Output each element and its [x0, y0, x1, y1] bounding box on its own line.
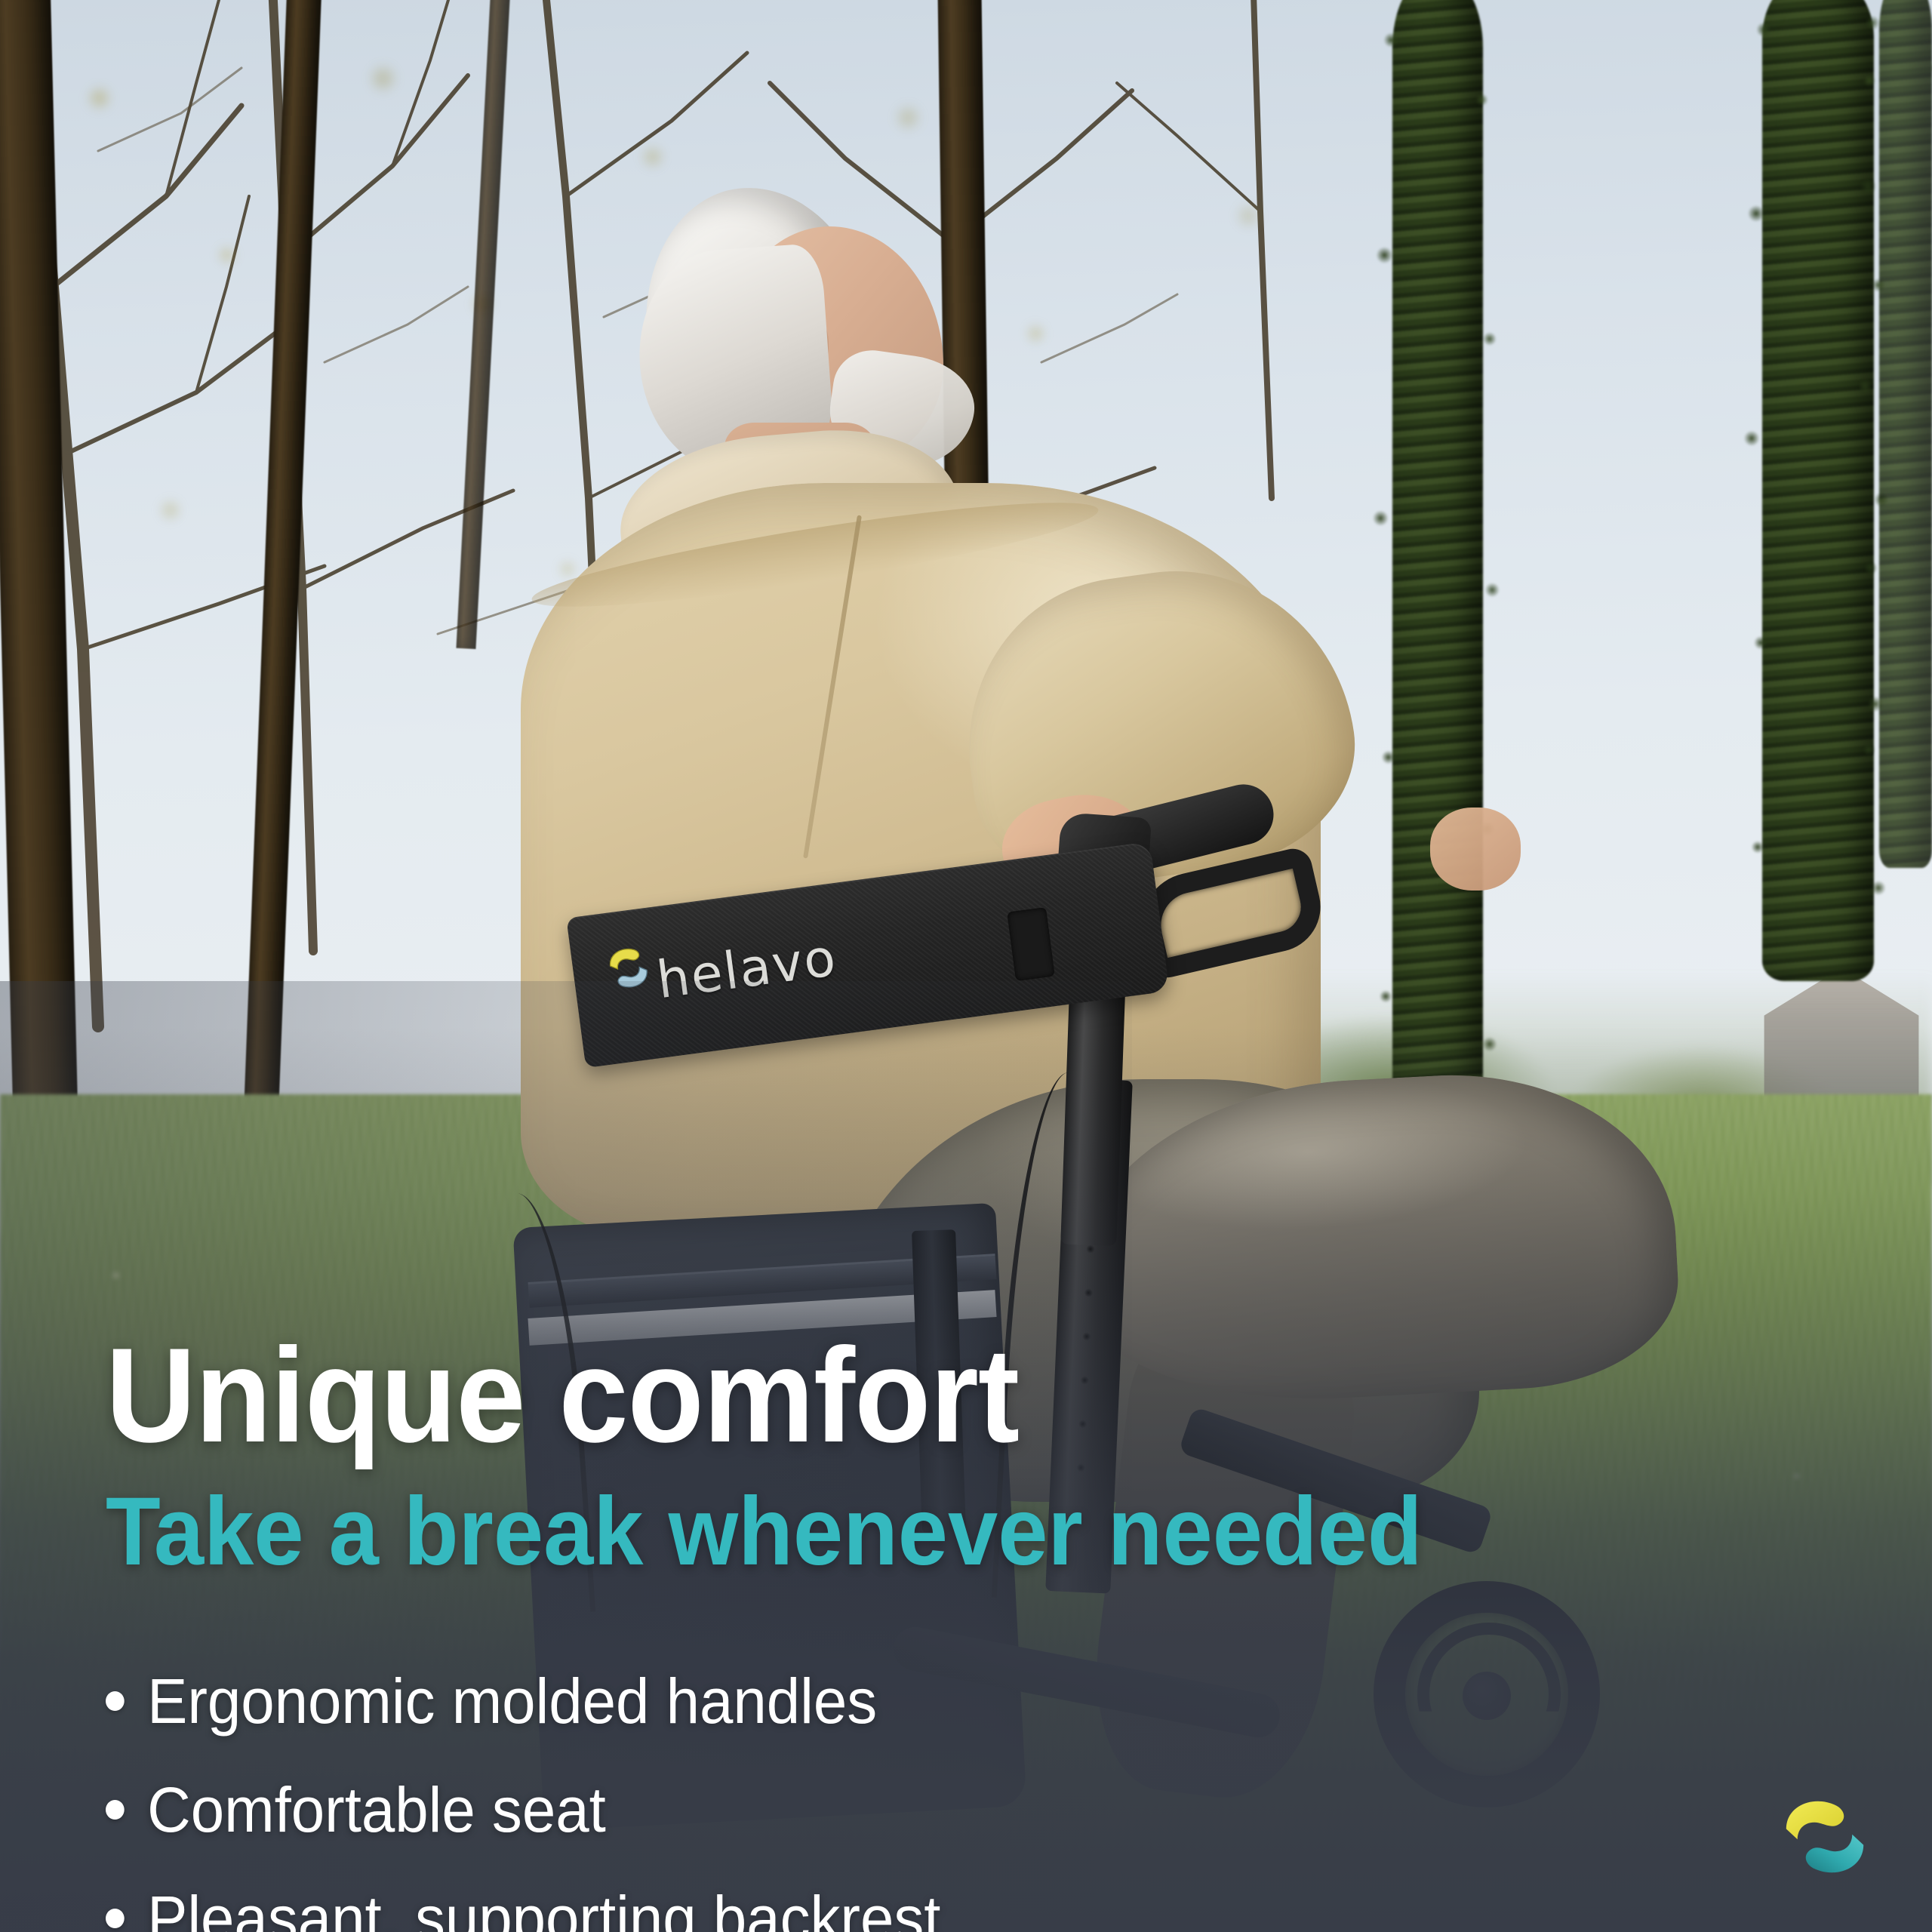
bullet-dot-icon	[106, 1800, 125, 1820]
marketing-copy-block: Unique comfort Take a break whenever nee…	[106, 1328, 1690, 1932]
list-item: Ergonomic molded handles	[106, 1669, 1611, 1733]
helavo-hands-logo-icon	[601, 939, 657, 999]
bullet-dot-icon	[106, 1909, 125, 1928]
list-item: Comfortable seat	[106, 1778, 1611, 1841]
headline: Unique comfort	[106, 1328, 1580, 1463]
list-item-label: Ergonomic molded handles	[147, 1669, 877, 1733]
ivy-poplar-tree	[1879, 0, 1932, 868]
feature-list: Ergonomic molded handles Comfortable sea…	[106, 1669, 1690, 1932]
helavo-hands-logo-icon	[1777, 1789, 1873, 1885]
ivy-poplar-tree	[1762, 0, 1874, 981]
hand	[1430, 808, 1521, 891]
ivy-poplar-tree	[1392, 0, 1483, 1155]
product-marketing-banner: helavo Unique comfort Take a break whene…	[0, 0, 1932, 1932]
bullet-dot-icon	[106, 1691, 125, 1711]
list-item: Pleasant, supporting backrest	[106, 1887, 1611, 1932]
subheadline: Take a break whenever needed	[106, 1484, 1580, 1580]
list-item-label: Comfortable seat	[147, 1778, 606, 1841]
list-item-label: Pleasant, supporting backrest	[147, 1887, 940, 1932]
